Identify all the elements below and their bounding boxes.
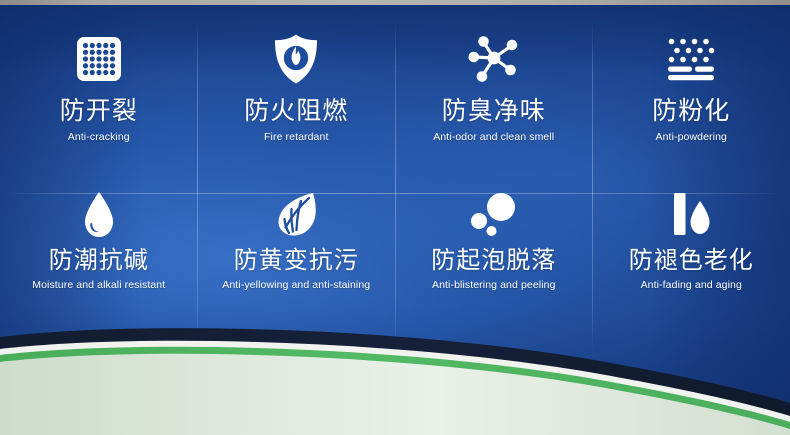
bubbles-icon — [466, 182, 522, 248]
feature-grid: 防开裂 Anti-cracking 防火阻燃 Fire retardant — [0, 6, 790, 346]
feature-cell-anti-cracking[interactable]: 防开裂 Anti-cracking — [0, 6, 198, 176]
feature-cell-anti-fading[interactable]: 防褪色老化 Anti-fading and aging — [593, 176, 790, 346]
shield-flame-icon — [272, 20, 320, 98]
feature-title-cn: 防开裂 — [60, 98, 138, 126]
feature-title-en: Anti-cracking — [68, 131, 130, 144]
feature-title-cn: 防起泡脱落 — [431, 248, 556, 274]
top-edge-strip — [0, 0, 790, 5]
powder-layers-icon — [664, 20, 718, 98]
feature-cell-anti-yellowing[interactable]: 防黄变抗污 Anti-yellowing and anti-staining — [198, 176, 396, 346]
feature-title-en: Anti-fading and aging — [641, 279, 742, 292]
feature-title-cn: 防火阻燃 — [244, 98, 348, 126]
feature-cell-fire-retardant[interactable]: 防火阻燃 Fire retardant — [198, 6, 396, 176]
feature-banner: 防开裂 Anti-cracking 防火阻燃 Fire retardant — [0, 0, 790, 435]
feature-title-cn: 防潮抗碱 — [49, 248, 149, 274]
feature-cell-moisture-alkali[interactable]: 防潮抗碱 Moisture and alkali resistant — [0, 176, 198, 346]
feature-cell-anti-odor[interactable]: 防臭净味 Anti-odor and clean smell — [395, 6, 593, 176]
bottom-wave-decoration — [0, 325, 790, 435]
feature-title-en: Fire retardant — [264, 131, 328, 144]
water-drop-icon — [81, 182, 117, 248]
feature-cell-anti-blistering[interactable]: 防起泡脱落 Anti-blistering and peeling — [395, 176, 593, 346]
feature-title-en: Anti-odor and clean smell — [433, 131, 554, 144]
feature-title-en: Anti-blistering and peeling — [432, 279, 556, 292]
feature-title-cn: 防粉化 — [652, 98, 730, 126]
feature-title-cn: 防褪色老化 — [629, 248, 754, 274]
grid-dots-icon — [74, 20, 124, 98]
feature-title-cn: 防臭净味 — [442, 98, 546, 126]
feature-title-en: Anti-yellowing and anti-staining — [222, 279, 370, 292]
bar-and-drop-icon — [667, 182, 715, 248]
leaf-icon — [271, 182, 321, 248]
feature-title-en: Anti-powdering — [656, 131, 727, 144]
molecule-icon — [466, 20, 522, 98]
feature-title-en: Moisture and alkali resistant — [32, 279, 165, 292]
feature-title-cn: 防黄变抗污 — [234, 248, 359, 274]
feature-cell-anti-powdering[interactable]: 防粉化 Anti-powdering — [593, 6, 790, 176]
